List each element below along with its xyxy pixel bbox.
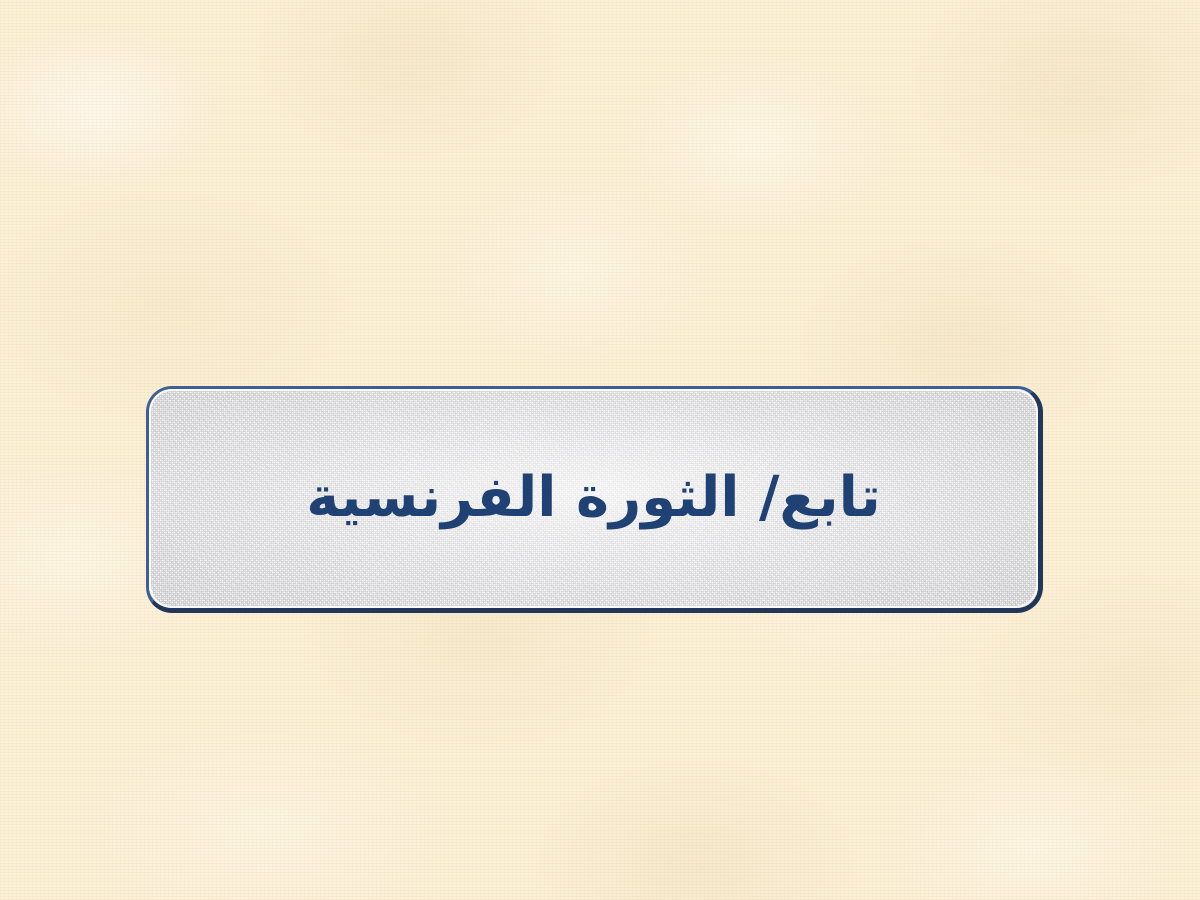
title-plaque: تابع/ الثورة الفرنسية bbox=[146, 386, 1043, 613]
slide-title: تابع/ الثورة الفرنسية bbox=[278, 466, 908, 530]
presentation-slide: تابع/ الثورة الفرنسية bbox=[0, 0, 1200, 900]
